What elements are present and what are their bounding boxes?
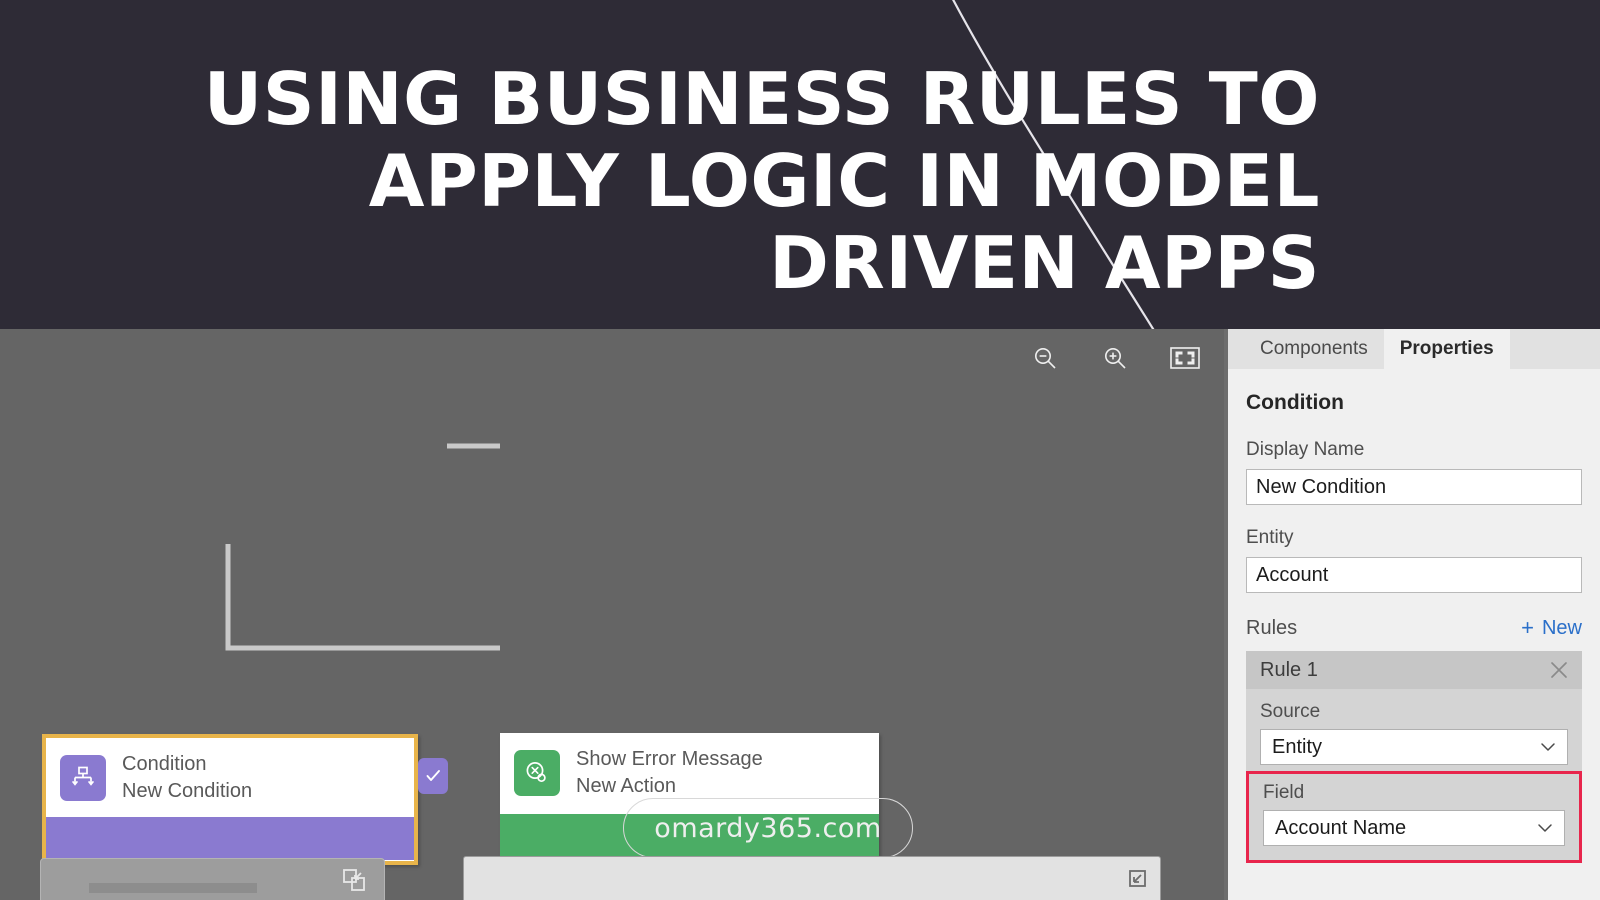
node-condition-type: Condition bbox=[122, 751, 252, 778]
add-rule-button[interactable]: + New bbox=[1521, 615, 1582, 641]
field-label: Field bbox=[1263, 782, 1565, 804]
watermark-badge: omardy365.com bbox=[623, 798, 913, 858]
add-rule-label: New bbox=[1542, 617, 1582, 640]
source-select[interactable]: Entity bbox=[1260, 729, 1568, 765]
panel-content: Condition Display Name New Condition Ent… bbox=[1228, 369, 1600, 863]
node-action-1-name: New Action bbox=[576, 773, 763, 800]
rule-card-body: Source Entity Field Account Name bbox=[1246, 689, 1582, 863]
designer-canvas[interactable]: Condition New Condition bbox=[0, 329, 1224, 900]
node-condition-body bbox=[46, 817, 414, 860]
branch-icon bbox=[60, 755, 106, 801]
rules-label: Rules bbox=[1246, 617, 1297, 640]
node-condition-name: New Condition bbox=[122, 778, 252, 805]
connector-badge-check-icon[interactable] bbox=[418, 758, 448, 794]
node-condition-text: Condition New Condition bbox=[122, 751, 252, 804]
expand-panel-icon[interactable] bbox=[1124, 867, 1148, 891]
rule-card-header: Rule 1 bbox=[1246, 651, 1582, 689]
error-message-icon bbox=[514, 750, 560, 796]
node-action-1-type: Show Error Message bbox=[576, 746, 763, 773]
dock-panel-center[interactable] bbox=[463, 856, 1161, 900]
panel-section-title: Condition bbox=[1246, 391, 1582, 415]
dock-panel-left[interactable] bbox=[40, 858, 385, 900]
entity-label: Entity bbox=[1246, 527, 1582, 549]
tab-bar-filler bbox=[1510, 329, 1600, 369]
chevron-down-icon bbox=[1536, 819, 1554, 837]
close-icon[interactable] bbox=[1548, 659, 1570, 681]
tab-components[interactable]: Components bbox=[1244, 329, 1384, 369]
source-select-value: Entity bbox=[1272, 736, 1322, 759]
title-banner: USING BUSINESS RULES TO APPLY LOGIC IN M… bbox=[0, 0, 1600, 329]
field-select[interactable]: Account Name bbox=[1263, 810, 1565, 846]
node-condition-header: Condition New Condition bbox=[46, 738, 414, 817]
rule-card: Rule 1 Source Entity bbox=[1246, 651, 1582, 863]
chevron-down-icon bbox=[1539, 738, 1557, 756]
rule-title: Rule 1 bbox=[1260, 659, 1318, 682]
screen-root: USING BUSINESS RULES TO APPLY LOGIC IN M… bbox=[0, 0, 1600, 900]
plus-icon: + bbox=[1521, 615, 1534, 641]
field-select-value: Account Name bbox=[1275, 817, 1406, 840]
field-highlight-box: Field Account Name bbox=[1246, 771, 1582, 863]
page-title: USING BUSINESS RULES TO APPLY LOGIC IN M… bbox=[140, 58, 1320, 304]
rules-header: Rules + New bbox=[1246, 615, 1582, 641]
panel-tab-bar: Components Properties bbox=[1228, 329, 1600, 369]
properties-panel: Components Properties Condition Display … bbox=[1224, 329, 1600, 900]
node-action-1-text: Show Error Message New Action bbox=[576, 746, 763, 799]
dock-panel-left-bar bbox=[89, 883, 257, 893]
expand-panel-icon[interactable] bbox=[342, 868, 366, 892]
node-condition[interactable]: Condition New Condition bbox=[42, 734, 418, 865]
tab-properties[interactable]: Properties bbox=[1384, 329, 1510, 369]
display-name-input[interactable]: New Condition bbox=[1246, 469, 1582, 505]
source-label: Source bbox=[1260, 701, 1568, 723]
display-name-label: Display Name bbox=[1246, 439, 1582, 461]
entity-input[interactable]: Account bbox=[1246, 557, 1582, 593]
